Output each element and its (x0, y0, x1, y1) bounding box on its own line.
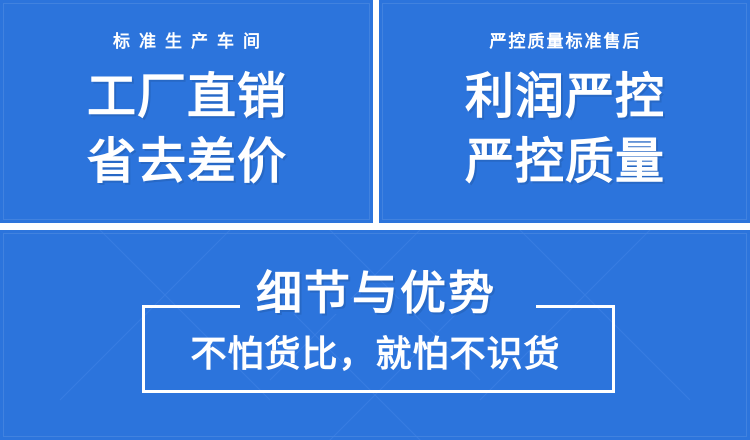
panel-factory-direct-text: 标准生产车间 工厂直销 省去差价 (0, 0, 373, 187)
panel-factory-direct: 标准生产车间 工厂直销 省去差价 (0, 0, 373, 223)
panel-factory-direct-headline-line2: 省去差价 (0, 138, 373, 187)
panel-factory-direct-eyebrow: 标准生产车间 (0, 33, 373, 50)
details-title: 细节与优势 (0, 270, 750, 316)
promo-banner: 标准生产车间 工厂直销 省去差价 严控质量标准售后 利润严控 严控质量 (0, 0, 750, 440)
panel-quality-control-text: 严控质量标准售后 利润严控 严控质量 (379, 0, 750, 187)
panel-quality-control: 严控质量标准售后 利润严控 严控质量 (379, 0, 750, 223)
details-subtitle: 不怕货比，就怕不识货 (0, 336, 750, 372)
panel-factory-direct-headline-line1: 工厂直销 (0, 73, 373, 122)
panel-quality-control-eyebrow: 严控质量标准售后 (379, 33, 750, 50)
panel-quality-control-headline-line1: 利润严控 (379, 73, 750, 122)
panel-quality-control-headline-line2: 严控质量 (379, 138, 750, 187)
